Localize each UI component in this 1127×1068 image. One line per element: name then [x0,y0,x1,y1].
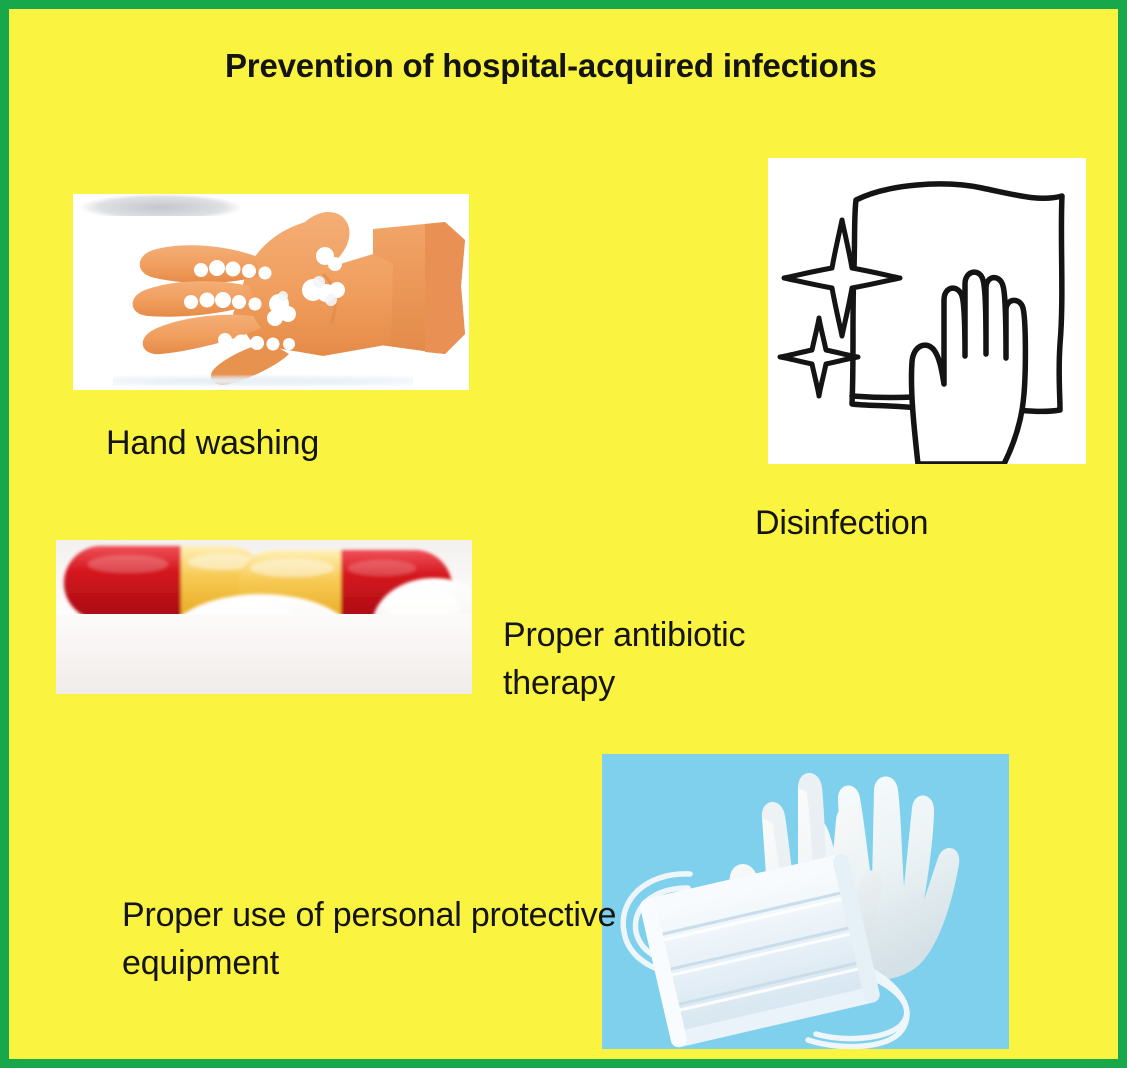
ppe-image [602,754,1009,1049]
antibiotic-pills-image [56,540,472,694]
disinfection-illustration [768,158,1086,464]
hand-washing-image [73,194,469,390]
hand-washing-illustration [73,194,469,390]
ppe-illustration [602,754,1009,1049]
page-title: Prevention of hospital-acquired infectio… [225,43,905,89]
pills-surface [56,614,472,694]
hand-washing-shadow [81,194,241,216]
hand-washing-foam-edge [113,374,413,388]
disinfection-image [768,158,1086,464]
caption-disinfection: Disinfection [755,499,1095,547]
caption-antibiotic-therapy: Proper antibiotic therapy [503,611,863,708]
caption-hand-washing: Hand washing [106,419,526,467]
infection-prevention-poster: Prevention of hospital-acquired infectio… [0,0,1127,1068]
caption-personal-protective-equipment: Proper use of personal protective equipm… [122,891,622,988]
